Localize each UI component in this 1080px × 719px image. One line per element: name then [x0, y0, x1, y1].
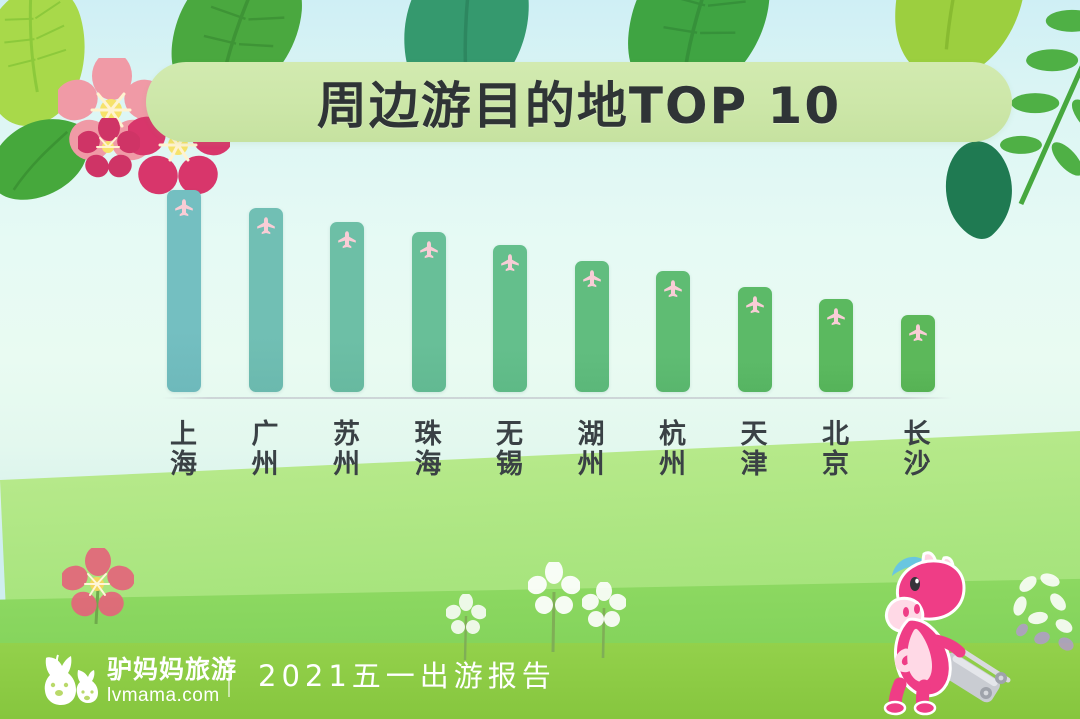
chart-category-char: 杭: [643, 420, 703, 450]
chart-category-label: 无锡: [480, 420, 540, 480]
airplane-icon: [744, 294, 766, 316]
chart-category-char: 津: [725, 450, 785, 480]
chart-category-label: 长沙: [888, 420, 948, 480]
chart-category-char: 州: [317, 450, 377, 480]
chart-category-char: 海: [399, 450, 459, 480]
chart-category-label: 湖州: [562, 420, 622, 480]
chart-baseline-axis: [162, 397, 952, 399]
airplane-icon: [581, 268, 603, 290]
brand-name-cn: 驴妈妈旅游: [107, 657, 237, 682]
chart-category-char: 苏: [317, 420, 377, 450]
airplane-icon: [418, 239, 440, 261]
brand-logo: 驴妈妈旅游 lvmama.com: [34, 652, 237, 710]
airplane-icon: [173, 197, 195, 219]
infographic-canvas: 周边游目的地TOP 10 上海广州苏州珠海无锡湖州杭州天津北京长沙: [0, 0, 1080, 719]
chart-bar: [167, 190, 201, 392]
airplane-icon: [499, 252, 521, 274]
airplane-icon: [255, 215, 277, 237]
chart-category-label: 珠海: [399, 420, 459, 480]
chart-category-char: 长: [888, 420, 948, 450]
chart-category-char: 京: [806, 450, 866, 480]
chart-category-char: 州: [562, 450, 622, 480]
donkey-mascot-with-suitcase-icon: [862, 548, 1080, 719]
chart-category-char: 沙: [888, 450, 948, 480]
chart-category-char: 海: [154, 450, 214, 480]
chart-category-label: 苏州: [317, 420, 377, 480]
airplane-icon: [825, 306, 847, 328]
chart-category-label: 杭州: [643, 420, 703, 480]
airplane-icon: [907, 322, 929, 344]
footer-divider: [228, 661, 230, 697]
chart-category-label: 天津: [725, 420, 785, 480]
report-title: 2021五一出游报告: [258, 653, 556, 695]
brand-name-en: lvmama.com: [107, 686, 237, 705]
donkey-logo-icon: [34, 652, 98, 710]
airplane-icon: [336, 229, 358, 251]
chart-category-char: 北: [806, 420, 866, 450]
chart-category-label: 广州: [236, 420, 296, 480]
chart-category-char: 州: [236, 450, 296, 480]
chart-category-char: 无: [480, 420, 540, 450]
chart-category-char: 上: [154, 420, 214, 450]
chart-category-char: 天: [725, 420, 785, 450]
chart-category-label: 北京: [806, 420, 866, 480]
chart-category-char: 州: [643, 450, 703, 480]
chart-category-char: 珠: [399, 420, 459, 450]
airplane-icon: [662, 278, 684, 300]
chart-category-char: 湖: [562, 420, 622, 450]
chart-category-char: 广: [236, 420, 296, 450]
chart-category-char: 锡: [480, 450, 540, 480]
chart-category-label: 上海: [154, 420, 214, 480]
